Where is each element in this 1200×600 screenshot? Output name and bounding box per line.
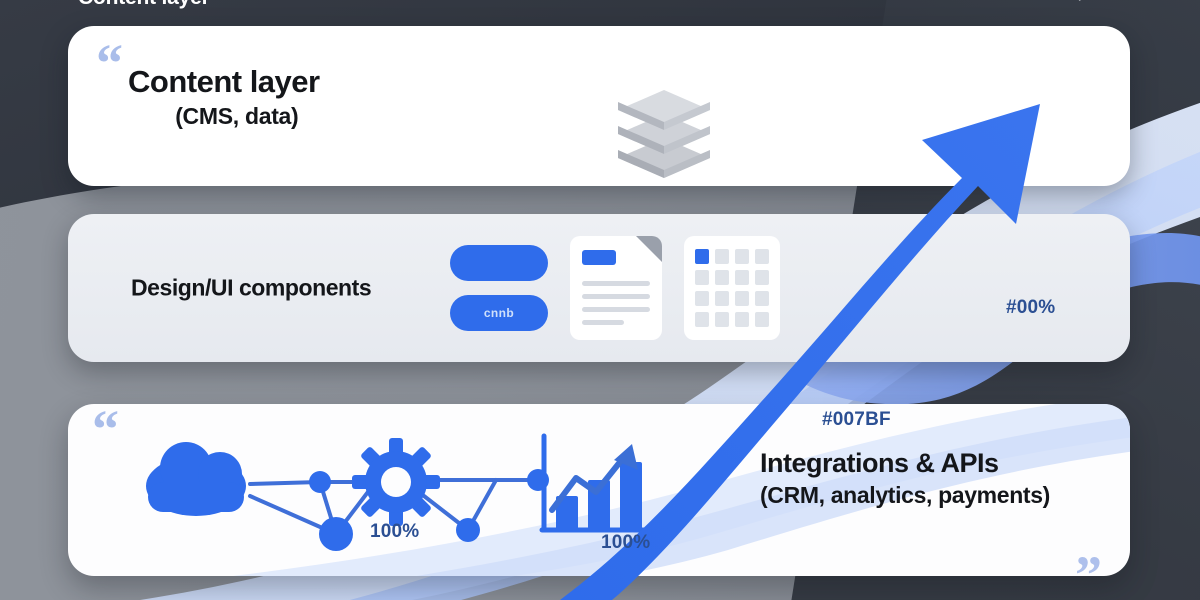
header-bar: Content layer	[0, 0, 1200, 20]
card-integrations-apis[interactable]: “	[68, 404, 1130, 576]
content-layer-subtitle: (CMS, data)	[128, 103, 320, 130]
integrations-subtitle: (CRM, analytics, payments)	[760, 482, 1050, 509]
quote-open-icon: “	[96, 36, 123, 90]
document-text-lines	[582, 281, 650, 325]
pill-button-labeled[interactable]: cnnb	[450, 295, 548, 331]
pill-button-label: cnnb	[484, 306, 514, 320]
annotation-tag-00: #00%	[1006, 297, 1055, 319]
document-header-chip	[582, 250, 616, 265]
card-design-ui[interactable]: Design/UI components cnnb	[68, 214, 1130, 362]
search-icon[interactable]	[1064, 0, 1082, 2]
pill-button-solid[interactable]	[450, 245, 548, 281]
quote-open-icon-3: “	[92, 404, 119, 456]
content-layer-text: Content layer (CMS, data)	[128, 66, 320, 130]
design-ui-title: Design/UI components	[131, 275, 371, 302]
database-stack-icon	[610, 78, 718, 178]
document-card-icon[interactable]	[570, 236, 662, 340]
annotation-tag-007bf: #007BF	[822, 409, 891, 431]
header-tools	[1064, 0, 1138, 2]
infographic-canvas: Content layer	[0, 0, 1200, 600]
cloud-shape	[146, 442, 246, 516]
content-layer-title: Content layer	[128, 66, 320, 99]
page-title: Content layer	[78, 0, 210, 10]
card-content-layer[interactable]: “ Content layer (CMS, data)	[68, 26, 1130, 186]
grid-cells	[695, 249, 769, 327]
pill-button-group: cnnb	[450, 245, 548, 331]
bar-chart-growth-icon	[528, 430, 656, 542]
integrations-title: Integrations & APIs	[760, 448, 1050, 479]
annotation-tag-100-center: 100%	[601, 532, 650, 554]
gear-icon	[352, 438, 440, 526]
annotation-tag-100-left: 100%	[370, 521, 419, 543]
ui-component-mockups: cnnb	[450, 236, 780, 340]
integrations-text: Integrations & APIs (CRM, analytics, pay…	[760, 448, 1050, 509]
document-fold-corner	[636, 236, 662, 262]
grid-card-icon[interactable]	[684, 236, 780, 340]
quote-close-icon: ”	[1075, 548, 1102, 576]
